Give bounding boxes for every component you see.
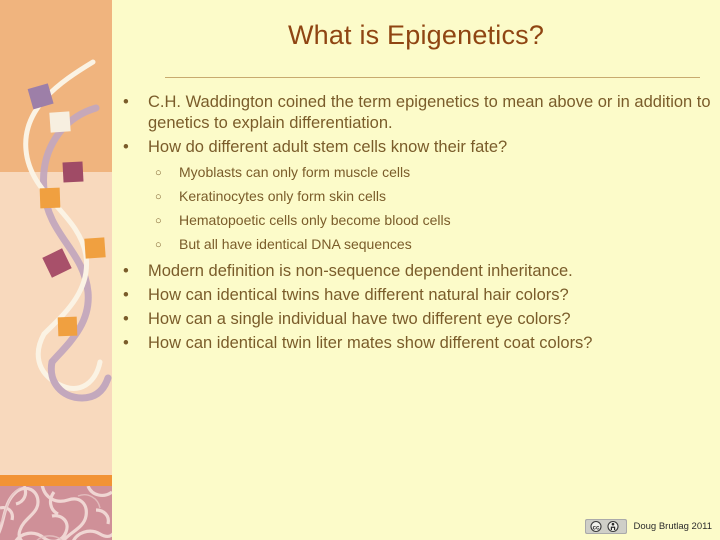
bullet-item: • How can a single individual have two d… — [118, 309, 718, 330]
bullet-text: How can identical twins have different n… — [148, 286, 569, 304]
bullet-text: Modern definition is non-sequence depend… — [148, 262, 573, 280]
bullet-dot-icon: • — [123, 137, 129, 158]
creative-commons-by-icon[interactable]: cc — [585, 519, 627, 534]
sub-bullet-item: ○ But all have identical DNA sequences — [148, 234, 718, 255]
sidebar-orange-rule — [0, 475, 112, 486]
square-orange-2 — [84, 237, 105, 258]
sidebar-ornament-pattern — [0, 486, 112, 540]
bullet-item: • How can identical twin liter mates sho… — [118, 333, 718, 354]
bullet-circle-icon: ○ — [155, 163, 162, 184]
svg-text:cc: cc — [593, 525, 600, 531]
slide-body: • C.H. Waddington coined the term epigen… — [118, 92, 718, 357]
bullet-item: • How do different adult stem cells know… — [118, 137, 718, 255]
bullet-item: • Modern definition is non-sequence depe… — [118, 261, 718, 282]
sub-bullet-text: Myoblasts can only form muscle cells — [179, 164, 410, 180]
square-orange — [40, 188, 61, 209]
sub-bullet-list: ○ Myoblasts can only form muscle cells ○… — [148, 162, 718, 255]
square-maroon — [62, 161, 83, 182]
bullet-text: How do different adult stem cells know t… — [148, 138, 507, 156]
sub-bullet-text: Keratinocytes only form skin cells — [179, 188, 386, 204]
bullet-circle-icon: ○ — [155, 235, 162, 256]
square-maroon-2 — [42, 248, 71, 277]
sub-bullet-item: ○ Hematopoetic cells only become blood c… — [148, 210, 718, 231]
dna-helix-graphic — [0, 0, 112, 540]
credit-text: Doug Brutlag 2011 — [633, 521, 712, 532]
sub-bullet-text: But all have identical DNA sequences — [179, 236, 412, 252]
sub-bullet-item: ○ Myoblasts can only form muscle cells — [148, 162, 718, 183]
bullet-list: • C.H. Waddington coined the term epigen… — [118, 92, 718, 354]
slide-canvas: What is Epigenetics? • C.H. Waddington c… — [0, 0, 720, 540]
bullet-text: How can identical twin liter mates show … — [148, 334, 593, 352]
ornament-swirls — [0, 486, 112, 540]
bullet-text: How can a single individual have two dif… — [148, 310, 571, 328]
bullet-text: C.H. Waddington coined the term epigenet… — [148, 93, 711, 132]
square-purple — [28, 83, 54, 109]
bullet-item: • How can identical twins have different… — [118, 285, 718, 306]
square-orange-3 — [58, 317, 78, 337]
square-cream — [49, 111, 70, 132]
credit-footer: cc Doug Brutlag 2011 — [585, 519, 712, 534]
bullet-dot-icon: • — [123, 309, 129, 330]
bullet-dot-icon: • — [123, 261, 129, 282]
sub-bullet-item: ○ Keratinocytes only form skin cells — [148, 186, 718, 207]
bullet-circle-icon: ○ — [155, 211, 162, 232]
bullet-dot-icon: • — [123, 333, 129, 354]
bullet-circle-icon: ○ — [155, 187, 162, 208]
bullet-item: • C.H. Waddington coined the term epigen… — [118, 92, 718, 134]
slide-title: What is Epigenetics? — [112, 20, 720, 51]
title-divider-rule — [165, 77, 700, 78]
bullet-dot-icon: • — [123, 92, 129, 113]
bullet-dot-icon: • — [123, 285, 129, 306]
decorative-sidebar — [0, 0, 112, 540]
sub-bullet-text: Hematopoetic cells only become blood cel… — [179, 212, 451, 228]
